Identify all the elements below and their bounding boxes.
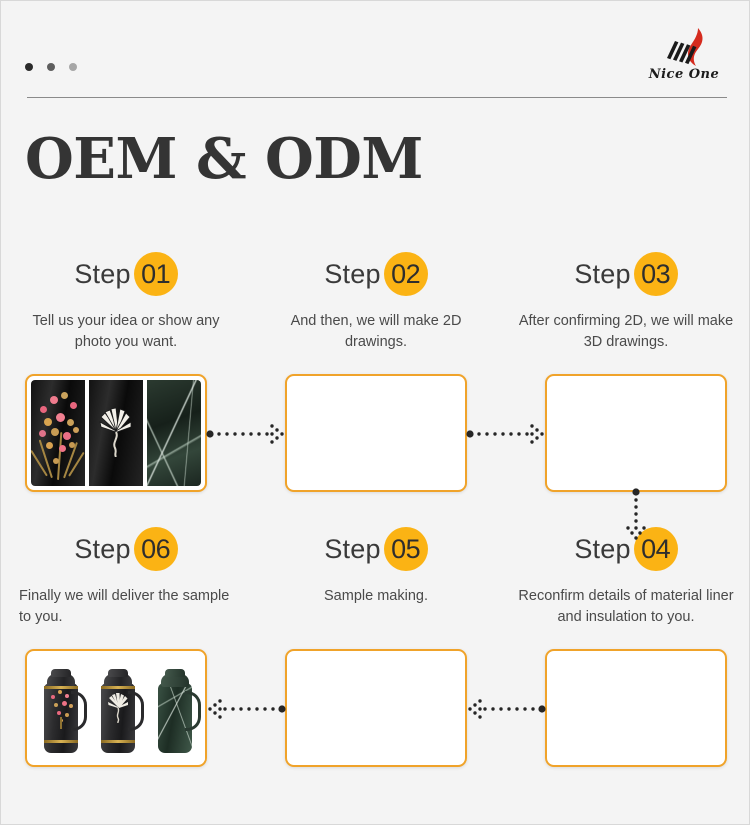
step-heading-02: Step02 [251,251,501,309]
white-flower-icon [92,401,140,457]
finished-products-card[interactable] [25,649,207,767]
step-label-03: Step [574,251,630,297]
step-number-01: 01 [134,252,178,296]
header-dot-1-icon [25,63,33,71]
step-block-01: Step01 Tell us your idea or show any pho… [1,251,251,353]
header-dot-3-icon [69,63,77,71]
step-block-02: Step02 And then, we will make 2D drawing… [251,251,501,353]
finished-products-image [31,655,207,761]
step-number-02: 02 [384,252,428,296]
connector-step2-to-step3 [466,419,546,449]
step-label-01: Step [74,251,130,297]
step-badge-02: 02 [384,252,428,296]
brand-name: Nice One [641,67,727,82]
step-block-03: Step03 After confirming 2D, we will make… [501,251,750,353]
3d-reconfirm-card[interactable] [545,649,727,767]
connector-step3-to-step4 [621,488,651,546]
step-badge-05: 05 [384,527,428,571]
step-description-04: Reconfirm details of material liner and … [501,586,750,628]
factory-card[interactable] [285,649,467,767]
product-flask-floral [40,661,86,753]
step-number-06: 06 [134,527,178,571]
panel-floral [31,380,85,486]
connector-step4-to-step5 [466,694,546,724]
header-divider [27,97,727,98]
panel-green-marble [147,380,201,486]
step-block-06: Step06 Finally we will deliver the sampl… [1,526,251,628]
2d-drawing-card[interactable] [285,374,467,492]
step-label-05: Step [324,526,380,572]
step-badge-06: 06 [134,527,178,571]
product-flask-white-flower [97,661,143,753]
step-number-05: 05 [384,527,428,571]
header-dot-2-icon [47,63,55,71]
product-flask-green-marble [154,661,200,753]
step-label-06: Step [74,526,130,572]
page-title: OEM & ODM [25,126,423,192]
oem-odm-infographic: Nice One OEM & ODM Step01 Tell us your i… [0,0,750,825]
page-header: Nice One [1,1,750,109]
brand-logo: Nice One [641,25,727,93]
step-badge-03: 03 [634,252,678,296]
step-number-03: 03 [634,252,678,296]
reference-photos-image [31,380,201,486]
step-description-02: And then, we will make 2D drawings. [251,311,501,353]
panel-white-flower [89,380,143,486]
step-description-03: After confirming 2D, we will make 3D dra… [501,311,750,353]
connector-step5-to-step6 [206,694,286,724]
step-heading-05: Step05 [251,526,501,584]
step-description-06: Finally we will deliver the sample to yo… [1,586,251,628]
step-badge-01: 01 [134,252,178,296]
step-heading-03: Step03 [501,251,750,309]
step-block-05: Step05 Sample making. [251,526,501,607]
step-heading-01: Step01 [1,251,251,309]
3d-drawing-card[interactable] [545,374,727,492]
step-description-05: Sample making. [251,586,501,607]
step-heading-06: Step06 [1,526,251,584]
product-white-flower-icon [105,689,131,723]
step-label-02: Step [324,251,380,297]
reference-photos-card[interactable] [25,374,207,492]
nice-one-flame-icon [653,25,717,69]
step-description-01: Tell us your idea or show any photo you … [1,311,251,353]
header-dots [25,63,77,71]
connector-step1-to-step2 [206,419,286,449]
